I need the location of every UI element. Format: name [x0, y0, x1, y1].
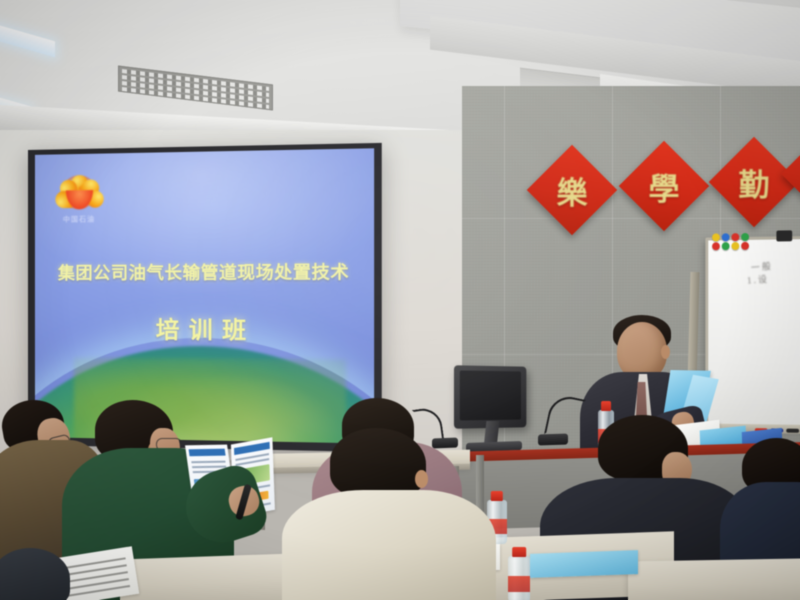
bottle-cap	[491, 491, 503, 501]
microphone-base	[432, 438, 458, 449]
bottle-label	[508, 576, 530, 592]
attendee-cream-jacket-body	[282, 490, 496, 600]
projection-screen: 中国石油 集团公司油气长输管道现场处置技术 培训班	[28, 143, 382, 452]
bottle-body	[508, 556, 530, 600]
petrochina-logo-text: 中国石油	[53, 214, 105, 225]
water-bottle	[508, 556, 530, 600]
whiteboard-magnets-row-2	[712, 242, 749, 250]
desk-front-far-right	[628, 558, 800, 600]
slide-title: 集团公司油气长输管道现场处置技术	[35, 257, 374, 284]
petrochina-logo-mark	[59, 172, 99, 213]
photo-scene: 樂 學 勤 業 一 般 1 . 设	[0, 0, 800, 600]
whiteboard-clip	[776, 230, 792, 241]
placard-character-1-text: 樂	[557, 168, 588, 213]
attendee-cream-jacket-ear	[415, 470, 428, 488]
black-marker	[786, 429, 799, 433]
whiteboard-magnets-row-1	[712, 233, 749, 241]
bottle-cap	[512, 547, 526, 557]
placard-character-2-text: 學	[649, 164, 680, 209]
projected-slide: 中国石油 集团公司油气长输管道现场处置技术 培训班	[35, 148, 374, 443]
desk-document-blue	[530, 550, 638, 578]
petrochina-logo: 中国石油	[53, 172, 105, 225]
presenter-ear	[661, 345, 670, 359]
bottle-cap	[601, 401, 611, 411]
attendee-cream-jacket-hair	[330, 428, 426, 498]
microphone-base	[538, 433, 568, 445]
ceiling-light	[0, 23, 55, 58]
ceiling-air-vent	[118, 65, 273, 110]
slide-subtitle: 培训班	[35, 310, 374, 346]
placard-character-3-text: 勤	[739, 160, 770, 205]
whiteboard: 一 般 1 . 设	[705, 236, 800, 428]
computer-monitor	[454, 365, 526, 428]
